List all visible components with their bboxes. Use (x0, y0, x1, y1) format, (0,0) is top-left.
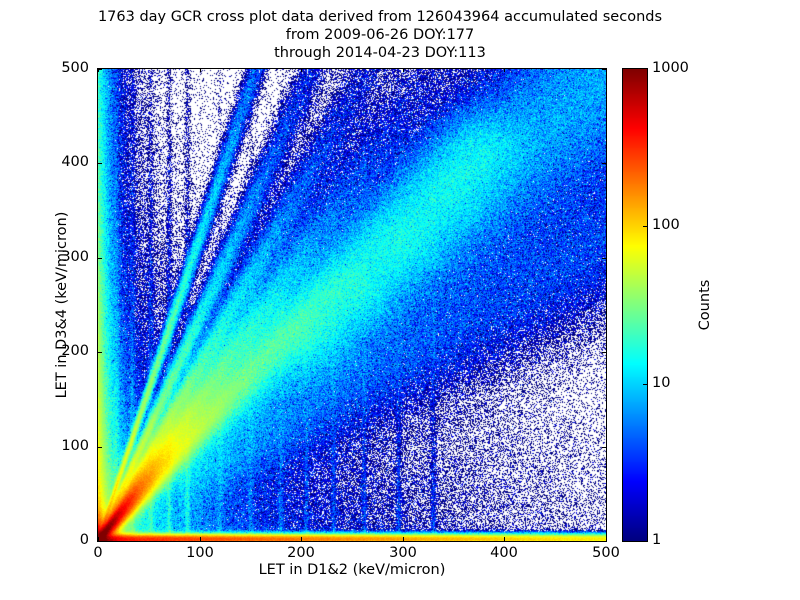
x-tick-mark-top (504, 68, 505, 72)
y-tick-label: 0 (29, 532, 89, 548)
colorbar-tick-mark (643, 384, 647, 385)
x-axis-label: LET in D1&2 (keV/micron) (97, 562, 607, 578)
x-tick-mark (504, 537, 505, 541)
figure-canvas: 1763 day GCR cross plot data derived fro… (0, 0, 800, 600)
density-heatmap (98, 69, 606, 541)
y-axis-label: LET in D3&4 (keV/micron) (54, 95, 70, 515)
plot-title: 1763 day GCR cross plot data derived fro… (0, 8, 760, 62)
x-tick-mark (200, 537, 201, 541)
y-tick-mark (98, 69, 102, 70)
colorbar-label: Counts (697, 195, 713, 415)
colorbar-gradient (623, 69, 647, 541)
y-tick-mark-right (602, 69, 606, 70)
plot-area (97, 68, 607, 542)
title-line-1: 1763 day GCR cross plot data derived fro… (0, 8, 760, 26)
x-tick-label: 500 (576, 545, 636, 561)
title-line-2: from 2009-06-26 DOY:177 (0, 26, 760, 44)
y-tick-mark-right (602, 163, 606, 164)
y-tick-mark (98, 541, 102, 542)
x-tick-mark (301, 537, 302, 541)
x-tick-mark (606, 537, 607, 541)
x-tick-label: 400 (474, 545, 534, 561)
colorbar-tick-label: 100 (652, 217, 680, 233)
y-tick-mark-right (602, 541, 606, 542)
x-tick-mark-top (200, 68, 201, 72)
x-tick-mark-top (606, 68, 607, 72)
y-tick-mark (98, 163, 102, 164)
colorbar-tick-label: 1000 (652, 60, 689, 76)
x-tick-label: 100 (170, 545, 230, 561)
y-tick-label: 500 (29, 60, 89, 76)
x-tick-label: 300 (373, 545, 433, 561)
x-tick-mark (403, 537, 404, 541)
y-tick-mark-right (602, 352, 606, 353)
x-tick-label: 200 (271, 545, 331, 561)
y-tick-mark-right (602, 447, 606, 448)
x-tick-mark-top (301, 68, 302, 72)
colorbar-tick-mark (643, 226, 647, 227)
y-tick-mark (98, 258, 102, 259)
y-tick-mark (98, 447, 102, 448)
y-tick-mark-right (602, 258, 606, 259)
y-tick-mark (98, 352, 102, 353)
colorbar-tick-label: 1 (652, 532, 661, 548)
title-line-3: through 2014-04-23 DOY:113 (0, 44, 760, 62)
x-tick-mark-top (403, 68, 404, 72)
colorbar (622, 68, 648, 542)
colorbar-tick-label: 10 (652, 375, 670, 391)
